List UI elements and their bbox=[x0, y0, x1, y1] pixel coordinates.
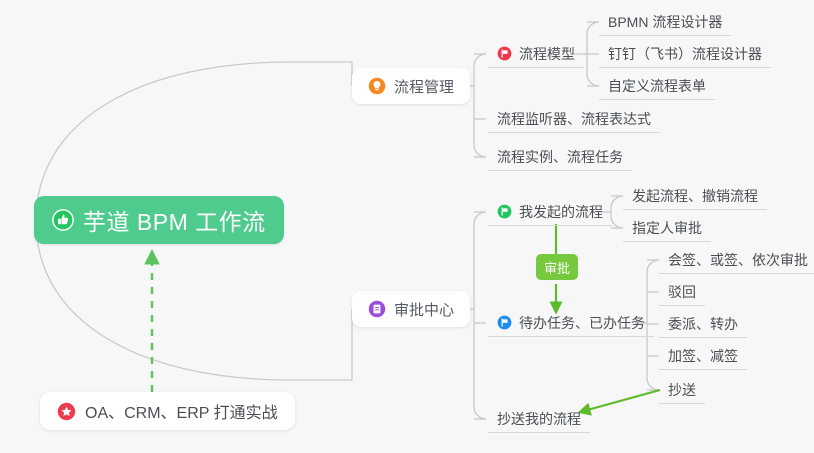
node-assigned-approver[interactable]: 指定人审批 bbox=[623, 214, 711, 242]
node-process-instance-task[interactable]: 流程实例、流程任务 bbox=[488, 143, 632, 171]
node-my-initiated-process[interactable]: 我发起的流程 bbox=[488, 198, 612, 226]
node-add-remove-sign[interactable]: 加签、减签 bbox=[659, 342, 747, 370]
node-process-listener-expression[interactable]: 流程监听器、流程表达式 bbox=[488, 105, 660, 133]
flag-blue-icon bbox=[497, 315, 512, 330]
lightbulb-icon bbox=[368, 77, 386, 95]
label-my-initiated-process: 我发起的流程 bbox=[519, 202, 603, 222]
connector-root-to-approval-center bbox=[36, 221, 352, 380]
star-red-icon bbox=[57, 402, 76, 421]
connector-pm-bracket bbox=[474, 54, 486, 157]
node-bpmn-designer[interactable]: BPMN 流程设计器 bbox=[599, 8, 731, 36]
connector-model-bracket bbox=[587, 22, 599, 86]
label-assigned-approver: 指定人审批 bbox=[632, 218, 702, 238]
label-bpmn-designer: BPMN 流程设计器 bbox=[608, 12, 722, 32]
label-custom-process-form: 自定义流程表单 bbox=[608, 76, 706, 96]
node-reject[interactable]: 驳回 bbox=[659, 278, 705, 306]
node-start-cancel-process[interactable]: 发起流程、撤销流程 bbox=[623, 182, 767, 210]
label-cc-my-process: 抄送我的流程 bbox=[497, 409, 581, 429]
branch-label-process-management: 流程管理 bbox=[394, 76, 454, 97]
approval-tag-label: 审批 bbox=[544, 258, 570, 277]
node-custom-process-form[interactable]: 自定义流程表单 bbox=[599, 72, 715, 100]
label-process-instance-task: 流程实例、流程任务 bbox=[497, 147, 623, 167]
integration-card-label: OA、CRM、ERP 打通实战 bbox=[85, 399, 278, 423]
branch-node-approval-center[interactable]: 审批中心 bbox=[352, 291, 470, 327]
node-process-model[interactable]: 流程模型 bbox=[488, 40, 584, 68]
connector-init-bracket bbox=[611, 196, 623, 228]
branch-label-approval-center: 审批中心 bbox=[394, 299, 454, 320]
integration-card[interactable]: OA、CRM、ERP 打通实战 bbox=[40, 392, 295, 430]
label-countersign-orsign-sequential: 会签、或签、依次审批 bbox=[668, 250, 808, 270]
label-dingtalk-feishu-designer: 钉钉（飞书）流程设计器 bbox=[608, 44, 762, 64]
node-dingtalk-feishu-designer[interactable]: 钉钉（飞书）流程设计器 bbox=[599, 40, 771, 68]
arrow-cc-to-ccmine bbox=[580, 390, 660, 412]
connector-ac-bracket bbox=[474, 212, 486, 419]
node-countersign-orsign-sequential[interactable]: 会签、或签、依次审批 bbox=[659, 246, 814, 274]
node-cc-my-process[interactable]: 抄送我的流程 bbox=[488, 405, 590, 433]
flag-green-icon bbox=[497, 204, 512, 219]
label-todo-done-tasks: 待办任务、已办任务 bbox=[519, 313, 645, 333]
flag-red-icon bbox=[497, 46, 512, 61]
thumbs-up-icon bbox=[52, 209, 74, 231]
clipboard-purple-icon bbox=[368, 300, 386, 318]
label-add-remove-sign: 加签、减签 bbox=[668, 346, 738, 366]
label-cc: 抄送 bbox=[668, 380, 696, 400]
mindmap-canvas: 芋道 BPM 工作流 流程管理 流程模型 BPMN 流程设计器 钉钉（飞书）流程… bbox=[0, 0, 814, 453]
node-delegate-transfer[interactable]: 委派、转办 bbox=[659, 310, 747, 338]
node-todo-done-tasks[interactable]: 待办任务、已办任务 bbox=[488, 309, 654, 337]
branch-node-process-management[interactable]: 流程管理 bbox=[352, 68, 470, 104]
root-node-label: 芋道 BPM 工作流 bbox=[83, 203, 266, 237]
label-delegate-transfer: 委派、转办 bbox=[668, 314, 738, 334]
node-cc[interactable]: 抄送 bbox=[659, 376, 705, 404]
approval-tag[interactable]: 审批 bbox=[536, 254, 578, 280]
label-reject: 驳回 bbox=[668, 282, 696, 302]
label-process-model: 流程模型 bbox=[519, 44, 575, 64]
label-process-listener-expression: 流程监听器、流程表达式 bbox=[497, 109, 651, 129]
label-start-cancel-process: 发起流程、撤销流程 bbox=[632, 186, 758, 206]
root-node[interactable]: 芋道 BPM 工作流 bbox=[34, 196, 284, 244]
